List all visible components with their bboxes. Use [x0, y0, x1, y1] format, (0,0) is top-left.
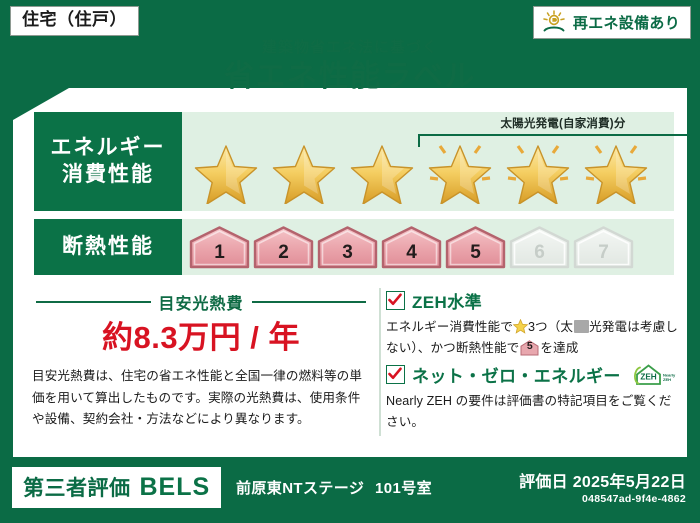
zeh-net-zero-title: ネット・ゼロ・エネルギー	[412, 362, 621, 387]
property-name: 前原東NTステージ	[236, 477, 364, 498]
evaluation-info: 評価日 2025年5月22日 048547ad-9f4e-4862	[519, 468, 686, 505]
insulation-level-value: 3	[317, 242, 378, 264]
energy-performance-row: エネルギー 消費性能 太陽光発電(自家消費)分	[34, 112, 674, 211]
room-number: 101号室	[375, 477, 432, 498]
energy-performance-label-box: エネルギー 消費性能	[34, 112, 182, 211]
insulation-level-6: 6	[509, 226, 570, 269]
energy-performance-label: 住宅（住戸） 再エネ設備あり 建築物省エネ法に基づく 省エネ性能ラベル	[0, 0, 700, 523]
renewable-badge-label: 再エネ設備あり	[573, 12, 680, 33]
utility-cost-heading: 目安光熱費	[36, 290, 366, 314]
zeh-standard-heading: ZEH水準	[386, 288, 678, 313]
insulation-level-2: 2	[253, 226, 314, 269]
solar-bracket-caption: 太陽光発電(自家消費)分	[418, 115, 700, 131]
building-type-tab: 住宅（住戸）	[10, 6, 139, 36]
star-5	[500, 134, 576, 204]
star-icon	[513, 319, 528, 334]
evaluation-id: 048547ad-9f4e-4862	[519, 493, 686, 505]
insulation-scale-track: 1 2	[182, 219, 674, 275]
insulation-label: 断熱性能	[62, 234, 154, 261]
bels-jp-label: 第三者評価	[23, 472, 131, 502]
svg-text:ZEH: ZEH	[663, 377, 671, 382]
star-2	[266, 134, 342, 204]
insulation-level-7: 7	[573, 226, 634, 269]
utility-cost-heading-text: 目安光熱費	[159, 290, 244, 314]
zeh-standard-text: エネルギー消費性能で3つ（太光発電は考慮しない）、かつ断熱性能で5を達成	[386, 317, 678, 359]
heading-rule-right	[252, 301, 367, 303]
star-6	[578, 134, 654, 204]
zeh-text-d: を達成	[540, 341, 578, 355]
insulation-level-1: 1	[189, 226, 250, 269]
star-rating	[182, 134, 654, 204]
energy-label-line1: エネルギー	[51, 135, 166, 162]
insulation-level-value: 6	[509, 242, 570, 264]
utility-cost-note: 目安光熱費は、住宅の省エネ性能と全国一律の燃料等の単価を用いて算出したものです。…	[32, 366, 372, 431]
svg-text:ZEH: ZEH	[640, 372, 656, 381]
insulation-level-value: 5	[445, 242, 506, 264]
insulation-level-value: 2	[253, 242, 314, 264]
zeh-text-a: エネルギー消費性能で	[386, 320, 513, 334]
energy-label-line2: 消費性能	[62, 162, 154, 189]
zeh-net-zero-checkbox[interactable]	[386, 365, 405, 384]
redacted-block	[574, 320, 589, 333]
title-subtitle: 建築物省エネ法に基づく	[0, 40, 700, 57]
energy-star-track: 太陽光発電(自家消費)分	[182, 112, 674, 211]
insulation-level-value: 4	[381, 242, 442, 264]
bels-en-label: BELS	[140, 473, 211, 502]
label-footer: 第三者評価 BELS 前原東NTステージ 101号室 評価日 2025年5月22…	[0, 459, 700, 523]
zeh-standard-checkbox[interactable]	[386, 291, 405, 310]
heading-rule-left	[36, 301, 151, 303]
insulation-level-4: 4	[381, 226, 442, 269]
insulation-level-value: 1	[189, 242, 250, 264]
utility-cost-value: 約8.3万円 / 年	[36, 312, 366, 357]
insulation-level-value: 7	[573, 242, 634, 264]
label-title: 建築物省エネ法に基づく 省エネ性能ラベル	[0, 40, 700, 95]
insulation-scale: 1 2	[189, 226, 634, 269]
zeh-house-logo: ZEH Nearly ZEH	[632, 363, 678, 387]
bels-badge: 第三者評価 BELS	[12, 467, 221, 508]
insulation-badge-inline-value: 5	[520, 338, 539, 355]
sun-solar-icon	[541, 10, 567, 34]
insulation-level-3: 3	[317, 226, 378, 269]
insulation-performance-row: 断熱性能 1	[34, 219, 674, 275]
zeh-net-zero-text: Nearly ZEH の要件は評価書の特記項目をご覧ください。	[386, 391, 678, 433]
title-main: 省エネ性能ラベル	[0, 58, 700, 96]
zeh-text-b: 3つ（太	[528, 320, 573, 334]
zeh-standard-title: ZEH水準	[412, 288, 482, 313]
zeh-net-zero-block: ネット・ゼロ・エネルギー ZEH Nearly ZEH Nearly ZEH の…	[386, 362, 678, 433]
star-1	[188, 134, 264, 204]
insulation-badge-inline: 5	[520, 340, 539, 356]
star-4	[422, 134, 498, 204]
star-3	[344, 134, 420, 204]
zeh-net-zero-heading: ネット・ゼロ・エネルギー ZEH Nearly ZEH	[386, 362, 678, 387]
evaluation-date: 評価日 2025年5月22日	[519, 468, 686, 492]
renewable-equipment-badge: 再エネ設備あり	[533, 6, 691, 39]
column-divider	[379, 288, 381, 436]
insulation-level-5: 5	[445, 226, 506, 269]
zeh-standard-block: ZEH水準 エネルギー消費性能で3つ（太光発電は考慮しない）、かつ断熱性能で5を…	[386, 288, 678, 359]
insulation-label-box: 断熱性能	[34, 219, 182, 275]
